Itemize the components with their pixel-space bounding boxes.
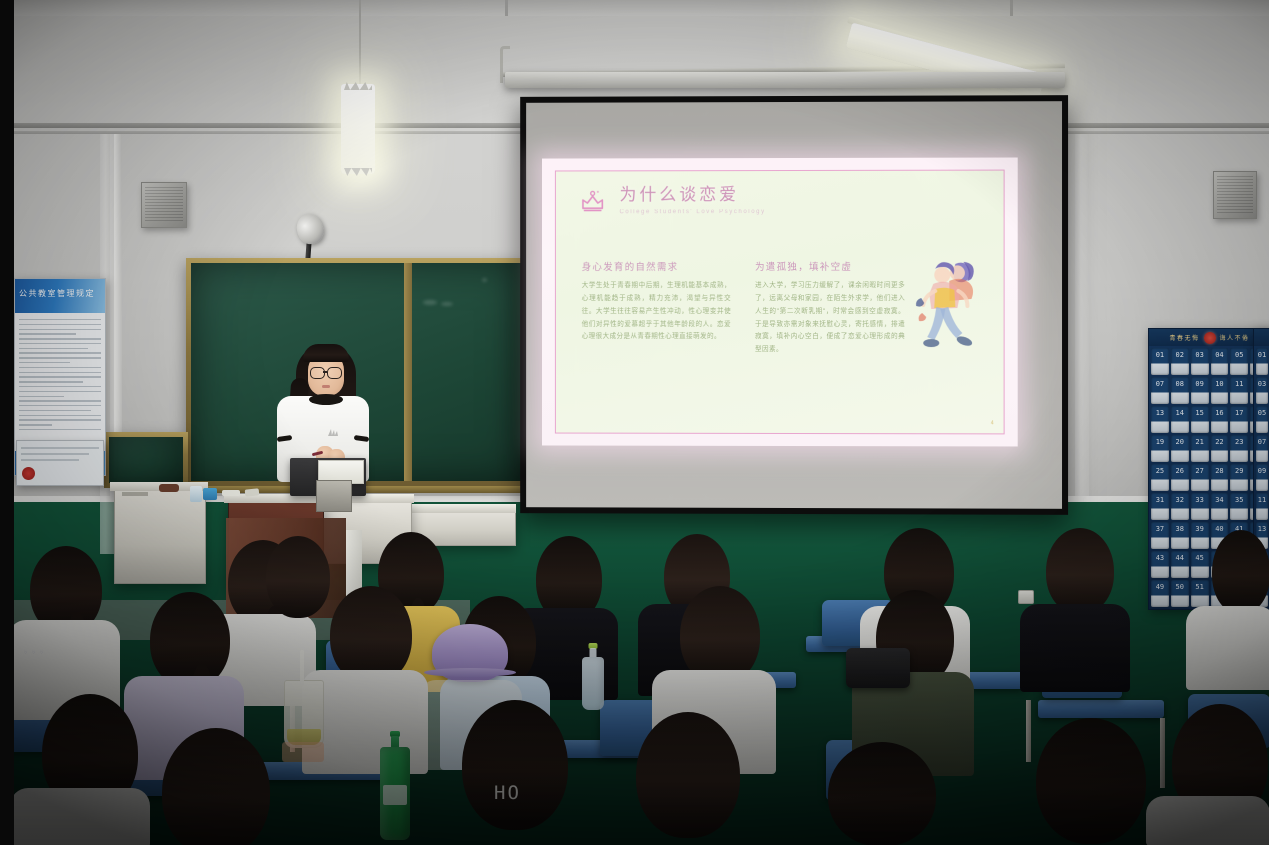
chair-leg [1026, 700, 1031, 762]
student-torso [1146, 796, 1269, 845]
pocket-cell[interactable]: 31 [1151, 493, 1169, 520]
pocket-cell[interactable]: 39 [1191, 522, 1209, 549]
student-head [462, 700, 568, 830]
poster-line [21, 453, 89, 455]
bottle-neck [590, 648, 597, 657]
column-body: 进入大学，学习压力缓解了，课余闲暇时间更多了，远离父母和家园，在陌生外求学，他们… [755, 280, 905, 357]
pocket-cell[interactable]: 27 [1191, 464, 1209, 491]
student-head [636, 712, 740, 838]
pocket-cell[interactable]: 08 [1171, 377, 1189, 404]
pocket-cell[interactable]: 01 [1151, 348, 1169, 375]
projector-screen-housing [505, 72, 1065, 88]
slide-subtitle: College Students' Love Psychology [619, 209, 765, 215]
pocket-cell[interactable]: 34 [1211, 493, 1229, 520]
pocket-number: 26 [1171, 467, 1189, 475]
student-head [1036, 718, 1146, 844]
pocket-number: 49 [1151, 583, 1169, 591]
pocket-number: 25 [1151, 467, 1169, 475]
pocket-cell[interactable]: 13 [1151, 406, 1169, 433]
pocket-number: 22 [1211, 438, 1229, 446]
column-body: 大学生处于青春期中后期，生理机能基本成熟，心理机能趋于成熟，精力充沛，渴望与异性… [582, 280, 731, 344]
cabinet-label [122, 492, 148, 496]
classroom-photo: 为什么谈恋爱 College Students' Love Psychology… [0, 0, 1269, 845]
presenter-bangs [303, 344, 349, 362]
eraser [245, 488, 260, 496]
pocket-number: 01 [1256, 351, 1268, 359]
pocket-board-header [1254, 329, 1269, 346]
student-torso [10, 788, 150, 845]
student-head [828, 742, 936, 845]
pocket-cell[interactable]: 16 [1211, 406, 1229, 433]
chalk-piece [222, 490, 240, 496]
secondary-notice-poster [16, 440, 104, 486]
pocket-number: 43 [1151, 554, 1169, 562]
pocket-number: 40 [1211, 525, 1229, 533]
pocket-number: 08 [1171, 380, 1189, 388]
slide-title: 为什么谈恋爱 [619, 187, 765, 205]
student-head [1046, 528, 1114, 614]
pocket-number: 34 [1211, 496, 1229, 504]
ceiling-seam [1010, 0, 1013, 16]
pocket-number: 02 [1171, 351, 1189, 359]
pocket-cell[interactable]: 22 [1211, 435, 1229, 462]
chalk-smudge [441, 302, 453, 306]
pocket-number: 37 [1151, 525, 1169, 533]
blackboard-panel-divider [404, 263, 412, 481]
water-bottle[interactable] [582, 648, 604, 710]
pocket-number: 13 [1151, 409, 1169, 417]
pocket-cell[interactable]: 19 [1151, 435, 1169, 462]
pocket-cell[interactable]: 26 [1171, 464, 1189, 491]
pocket-number: 19 [1151, 438, 1169, 446]
presenter-glasses-right-lens [327, 367, 342, 379]
bubble-tea-cup[interactable] [284, 680, 324, 748]
pocket-cell[interactable]: 10 [1211, 377, 1229, 404]
cup-carrier [282, 742, 324, 762]
bottle-body [380, 747, 410, 840]
pocket-number: 35 [1230, 496, 1248, 504]
pocket-cell[interactable]: 20 [1171, 435, 1189, 462]
teacher-desk-right-top [398, 504, 516, 513]
pocket-cell[interactable]: 28 [1211, 464, 1229, 491]
pocket-number: 10 [1211, 380, 1229, 388]
student-head [150, 592, 230, 688]
bottle-neck [391, 736, 399, 747]
student-head [1212, 530, 1269, 614]
pocket-cell[interactable]: 29 [1230, 464, 1248, 491]
wall-speaker-left [141, 182, 187, 228]
bottle-label [383, 785, 407, 805]
pocket-number: 14 [1171, 409, 1189, 417]
slide-page-number: 4 [991, 420, 994, 426]
wall-pilaster [1075, 134, 1089, 496]
poster-body-text [19, 319, 101, 449]
pocket-number: 03 [1256, 380, 1268, 388]
pocket-cell[interactable]: 37 [1151, 522, 1169, 549]
pocket-cell[interactable]: 09 [1191, 377, 1209, 404]
pocket-number: 09 [1191, 380, 1209, 388]
pocket-number: 29 [1230, 467, 1248, 475]
pocket-number: 50 [1171, 583, 1189, 591]
shirt-print: ♡ ♡ ♡ [24, 650, 44, 656]
pocket-number: 38 [1171, 525, 1189, 533]
presenter-glasses-bridge [323, 371, 327, 373]
pocket-cell[interactable]: 45 [1191, 551, 1209, 578]
pocket-number: 23 [1230, 438, 1248, 446]
pocket-cell[interactable]: 51 [1191, 580, 1209, 607]
pocket-number: 28 [1211, 467, 1229, 475]
ceiling [0, 0, 1269, 16]
pocket-cell[interactable]: 03 [1256, 377, 1268, 404]
pocket-cell[interactable]: 23 [1230, 435, 1248, 462]
pocket-cell[interactable]: 09 [1256, 464, 1268, 491]
pocket-cell[interactable]: 50 [1171, 580, 1189, 607]
pocket-cell[interactable]: 02 [1171, 348, 1189, 375]
pocket-number: 31 [1151, 496, 1169, 504]
pocket-board-header: 青春无悔 诲人不倦 [1149, 329, 1269, 346]
projector-screen: 为什么谈恋爱 College Students' Love Psychology… [520, 95, 1068, 515]
pocket-number: 03 [1191, 351, 1209, 359]
pocket-cell[interactable]: 49 [1151, 580, 1169, 607]
projected-slide: 为什么谈恋爱 College Students' Love Psychology… [542, 158, 1018, 447]
student-head [266, 536, 330, 618]
school-emblem-icon [1204, 332, 1216, 344]
pocket-number: 16 [1211, 409, 1229, 417]
pocket-number: 04 [1211, 351, 1229, 359]
pocket-number: 07 [1256, 438, 1268, 446]
tshirt-collar-trim [309, 394, 343, 405]
light-cord [359, 0, 361, 88]
wall-power-socket[interactable] [1018, 590, 1034, 604]
pocket-cell[interactable]: 15 [1191, 406, 1209, 433]
pocket-cell[interactable]: 33 [1191, 493, 1209, 520]
couple-piggyback-illustration [911, 255, 989, 359]
ceiling-seam [505, 0, 508, 16]
student-head [162, 728, 270, 845]
pocket-cell[interactable]: 43 [1151, 551, 1169, 578]
pocket-board-header-right: 诲人不倦 [1220, 333, 1250, 342]
speaker-grille [145, 187, 183, 223]
wall-speaker-right [1213, 171, 1257, 219]
pocket-number: 09 [1256, 467, 1268, 475]
drinking-straw [300, 650, 304, 686]
computer-case [316, 480, 352, 512]
pocket-number: 13 [1256, 525, 1268, 533]
pocket-number: 07 [1151, 380, 1169, 388]
pocket-cell[interactable]: 17 [1230, 406, 1248, 433]
pocket-cell[interactable]: 44 [1171, 551, 1189, 578]
poster-title: 公共教室管理规定 [19, 288, 95, 299]
blackboard-left-edge [104, 432, 188, 488]
pocket-number: 20 [1171, 438, 1189, 446]
pocket-number: 11 [1230, 380, 1248, 388]
pocket-cell[interactable]: 07 [1151, 377, 1169, 404]
slide-column-left: 身心发育的自然需求 大学生处于青春期中后期，生理机能基本成熟，心理机能趋于成熟，… [582, 259, 731, 357]
crown-heart-icon [578, 187, 608, 217]
pocket-board-header-left: 青春无悔 [1169, 333, 1199, 342]
pocket-number: 05 [1256, 409, 1268, 417]
presenter-glasses-left-lens [310, 367, 325, 379]
student-torso [1186, 606, 1269, 690]
pocket-number: 39 [1191, 525, 1209, 533]
pocket-number: 32 [1171, 496, 1189, 504]
slide-frame: 为什么谈恋爱 College Students' Love Psychology… [555, 170, 1005, 435]
backpack-on-desk [846, 648, 910, 688]
pocket-cell[interactable]: 32 [1171, 493, 1189, 520]
pocket-number: 33 [1191, 496, 1209, 504]
desk-object-brown [159, 484, 179, 492]
presenter-mouth [322, 385, 330, 388]
poster-seal-icon [22, 467, 35, 480]
bottle-body [582, 657, 604, 710]
tshirt-logo-icon [327, 424, 339, 433]
pocket-number: 05 [1230, 351, 1248, 359]
pocket-cell[interactable]: 03 [1191, 348, 1209, 375]
pocket-cell[interactable]: 38 [1171, 522, 1189, 549]
pocket-cell[interactable]: 11 [1230, 377, 1248, 404]
pocket-number: 11 [1256, 496, 1268, 504]
chalk-smudge [482, 278, 487, 282]
pocket-cell[interactable]: 05 [1256, 406, 1268, 433]
bucket-hat-brim [424, 668, 516, 677]
chair-leg [1160, 718, 1165, 788]
blue-item [203, 488, 217, 500]
pocket-number: 21 [1191, 438, 1209, 446]
pocket-cell[interactable]: 05 [1230, 348, 1248, 375]
pocket-number: 15 [1191, 409, 1209, 417]
pocket-cell[interactable]: 04 [1211, 348, 1229, 375]
poster-header: 公共教室管理规定 [15, 279, 105, 313]
student-desk [1038, 700, 1164, 718]
pocket-number: 27 [1191, 467, 1209, 475]
column-heading: 为遣孤独，填补空虚 [755, 259, 905, 273]
slide-column-right: 为遣孤独，填补空虚 进入大学，学习压力缓解了，课余闲暇时间更多了，远离父母和家园… [755, 259, 905, 357]
pendant-fluorescent-tube-icon [341, 84, 375, 174]
speaker-grille [1217, 176, 1253, 214]
slide-title-block: 为什么谈恋爱 College Students' Love Psychology [619, 187, 765, 215]
pocket-number: 44 [1171, 554, 1189, 562]
blackboard-surface [109, 437, 183, 483]
water-bottle-desk[interactable] [190, 486, 202, 502]
poster-line [21, 459, 79, 461]
graphic-tee-print: HO [494, 782, 521, 804]
column-heading: 身心发育的自然需求 [582, 259, 731, 273]
pocket-number: 01 [1151, 351, 1169, 359]
pocket-cell[interactable]: 25 [1151, 464, 1169, 491]
chalk-smudge [423, 300, 437, 305]
student-torso [1020, 604, 1130, 692]
pocket-number: 45 [1191, 554, 1209, 562]
pocket-number: 51 [1191, 583, 1209, 591]
pocket-cell[interactable]: 35 [1230, 493, 1248, 520]
photo-left-edge [0, 0, 14, 845]
pocket-cell[interactable]: 14 [1171, 406, 1189, 433]
slide-header: 为什么谈恋爱 College Students' Love Psychology [578, 187, 766, 217]
pocket-cell[interactable]: 21 [1191, 435, 1209, 462]
pocket-cell[interactable]: 11 [1256, 493, 1268, 520]
pocket-number: 17 [1230, 409, 1248, 417]
poster-line [21, 447, 99, 449]
pocket-cell[interactable]: 07 [1256, 435, 1268, 462]
sprite-bottle[interactable] [380, 736, 410, 840]
pocket-cell[interactable]: 01 [1256, 348, 1268, 375]
